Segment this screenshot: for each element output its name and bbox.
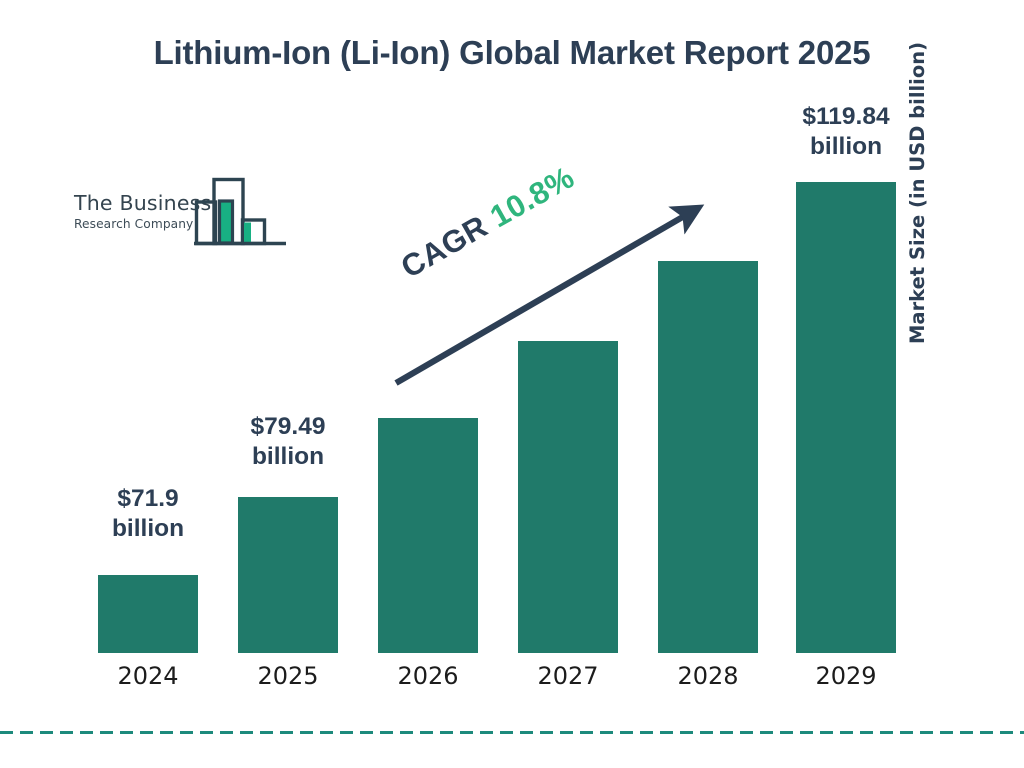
cagr-growth-arrow-icon [0,0,1024,768]
y-axis-title: Market Size (in USD billion) [906,0,929,344]
bar-chart-plot-area: $71.9 billion 2024 $79.49 billion 2025 2… [0,0,1024,768]
chart-canvas: Lithium-Ion (Li-Ion) Global Market Repor… [0,0,1024,768]
footer-divider [0,731,1024,734]
